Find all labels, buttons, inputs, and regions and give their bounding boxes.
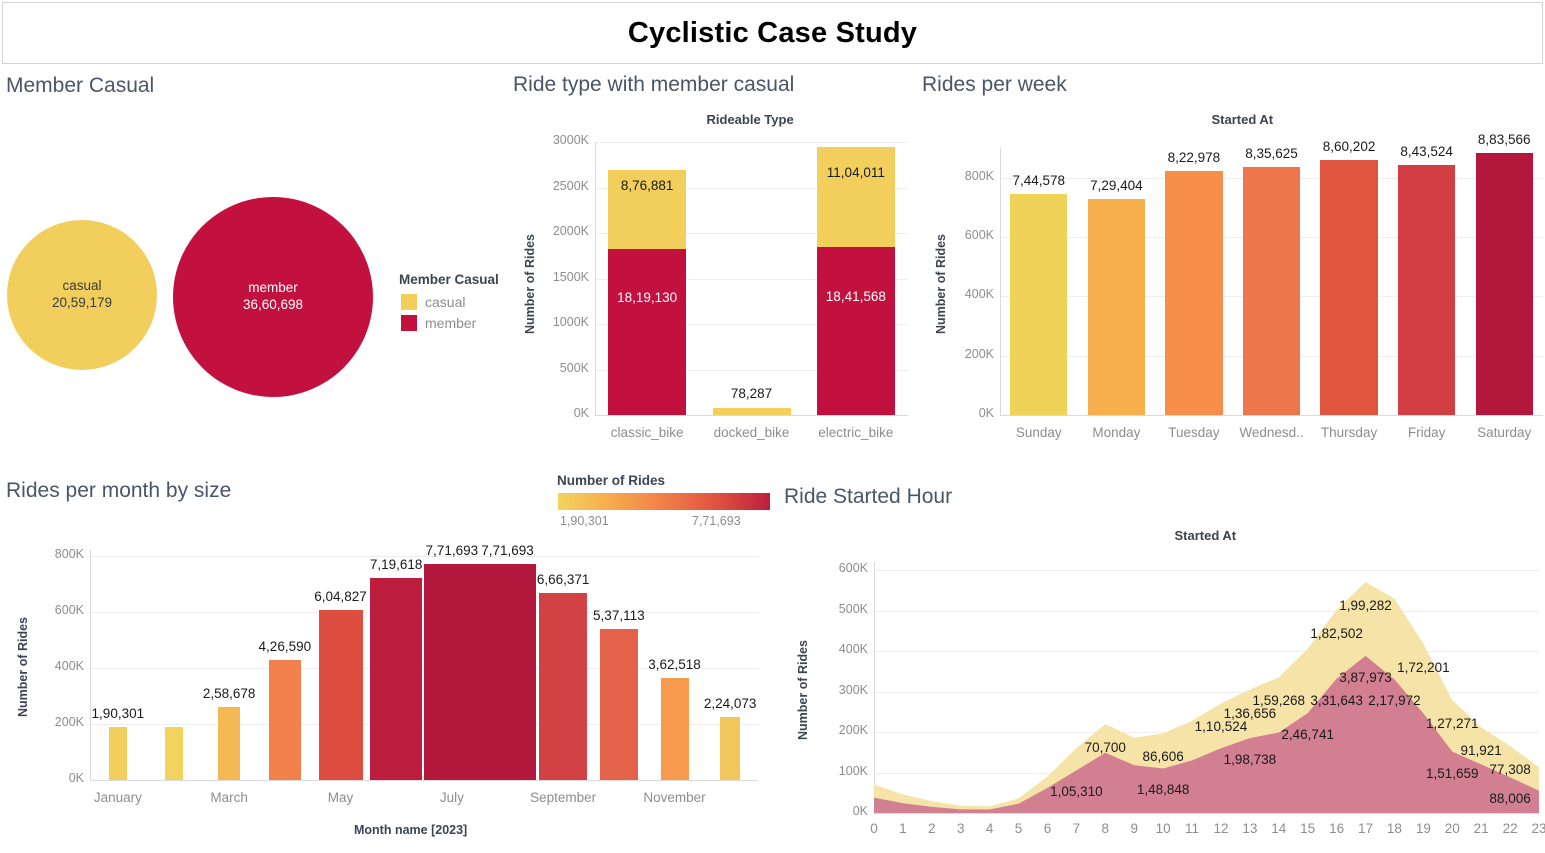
ride-started-hour-chart: Started AtNumber of Rides0K100K200K300K4… — [782, 520, 1545, 853]
legend-title-number-of-rides: Number of Rides — [557, 473, 665, 488]
ride-started-hour-x-tick-17: 17 — [1350, 821, 1382, 836]
rides-per-month-y-tick: 600K — [30, 603, 84, 617]
page-title: Cyclistic Case Study — [628, 17, 917, 50]
rides-per-month-value-September: 6,66,371 — [507, 572, 619, 587]
ride-type-y-tick: 2500K — [533, 179, 589, 193]
rides-per-week-bar-Tuesday[interactable] — [1165, 171, 1222, 415]
rides-per-month-bar-November[interactable] — [661, 678, 689, 780]
ride-started-hour-label-casual-21: 91,921 — [1427, 743, 1535, 758]
ride-started-hour-x-tick-8: 8 — [1089, 821, 1121, 836]
rides-per-month-bar-March[interactable] — [218, 707, 240, 780]
ride-started-hour-label-member-18: 2,17,972 — [1340, 693, 1448, 708]
legend-gradient-bar[interactable] — [558, 493, 770, 510]
rides-per-week-bar-Saturday[interactable] — [1476, 153, 1533, 415]
rides-per-month-bar-October[interactable] — [600, 629, 638, 780]
ride-started-hour-area-plot — [782, 520, 1545, 853]
x-axis-line — [595, 415, 908, 416]
rides-per-week-bar-Thursday[interactable] — [1320, 160, 1377, 415]
rides-per-month-bar-July[interactable] — [424, 564, 480, 780]
legend-label-casual: casual — [425, 294, 465, 310]
ride-type-y-tick: 3000K — [533, 133, 589, 147]
rides-per-week-chart-title: Started At — [1212, 112, 1274, 127]
bubble-label-casual: casual — [62, 278, 101, 295]
ride-type-value-casual-docked_bike: 78,287 — [713, 386, 791, 401]
ride-type-y-tick: 1500K — [533, 270, 589, 284]
rides-per-month-bar-May[interactable] — [319, 610, 363, 780]
ride-type-y-tick: 0K — [533, 406, 589, 420]
ride-type-bar-casual-docked_bike[interactable] — [713, 408, 791, 415]
ride-started-hour-x-tick-16: 16 — [1321, 821, 1353, 836]
legend-swatch-member — [401, 315, 417, 331]
rides-per-week-bar-Friday[interactable] — [1398, 165, 1455, 415]
ride-started-hour-x-tick-6: 6 — [1031, 821, 1063, 836]
rides-per-week-y-tick: 0K — [942, 406, 994, 420]
ride-started-hour-label-member-22: 88,006 — [1456, 791, 1545, 806]
x-axis-line — [90, 780, 758, 781]
panel-title-member-casual: Member Casual — [6, 74, 154, 98]
ride-type-value-member-electric_bike: 18,41,568 — [817, 289, 895, 304]
gridline — [595, 142, 908, 143]
ride-started-hour-x-tick-14: 14 — [1263, 821, 1295, 836]
rides-per-month-bar-February[interactable] — [165, 727, 183, 780]
rides-per-month-category-March: March — [171, 790, 287, 805]
ride-started-hour-label-member-10: 1,48,848 — [1109, 782, 1217, 797]
ride-started-hour-label-member-13: 1,98,738 — [1196, 752, 1304, 767]
ride-type-value-casual-classic_bike: 8,76,881 — [608, 178, 686, 193]
ride-started-hour-label-casual-16: 1,82,502 — [1283, 626, 1391, 641]
ride-started-hour-x-tick-23: 23 — [1523, 821, 1545, 836]
ride-started-hour-x-tick-10: 10 — [1147, 821, 1179, 836]
rides-per-week-bar-Sunday[interactable] — [1010, 194, 1067, 415]
legend-item-member[interactable]: member — [401, 315, 476, 331]
rides-per-month-bar-January[interactable] — [109, 727, 127, 780]
bubble-casual[interactable]: casual20,59,179 — [7, 220, 157, 370]
ride-started-hour-label-member-17: 3,87,973 — [1312, 670, 1420, 685]
y-axis-line — [595, 142, 596, 415]
ride-type-bar-casual-electric_bike[interactable] — [817, 147, 895, 247]
ride-started-hour-label-casual-20: 1,27,271 — [1398, 716, 1506, 731]
rides-per-month-x-axis-title: Month name [2023] — [354, 823, 467, 837]
rides-per-month-y-tick: 800K — [30, 547, 84, 561]
rides-per-week-y-tick: 600K — [942, 228, 994, 242]
legend-title-member-casual: Member Casual — [399, 272, 499, 287]
panel-title-rides-per-week: Rides per week — [922, 73, 1067, 97]
ride-started-hour-x-tick-19: 19 — [1407, 821, 1439, 836]
ride-started-hour-label-member-15: 2,46,741 — [1254, 727, 1362, 742]
ride-type-bar-member-electric_bike[interactable] — [817, 247, 895, 415]
ride-type-chart-title: Rideable Type — [707, 112, 794, 127]
rides-per-week-y-tick: 200K — [942, 347, 994, 361]
rides-per-week-category-Saturday: Saturday — [1452, 425, 1545, 440]
rides-per-month-bar-August[interactable] — [480, 564, 536, 780]
ride-started-hour-x-tick-11: 11 — [1176, 821, 1208, 836]
ride-started-hour-x-tick-20: 20 — [1436, 821, 1468, 836]
rides-per-month-value-August: 7,71,693 — [452, 543, 564, 558]
y-axis-line — [90, 550, 91, 780]
rides-per-week-y-tick: 400K — [942, 287, 994, 301]
rides-per-month-y-tick: 400K — [30, 659, 84, 673]
rides-per-week-chart: Started AtNumber of Rides0K200K400K600K8… — [922, 112, 1545, 467]
rides-per-month-category-May: May — [283, 790, 399, 805]
panel-title-ride-started-hour: Ride Started Hour — [784, 485, 952, 509]
rides-per-month-category-November: November — [617, 790, 733, 805]
ride-type-category-electric_bike: electric_bike — [790, 425, 922, 440]
dashboard-root: Cyclistic Case Study Member Casual Ride … — [0, 0, 1545, 853]
ride-started-hour-x-tick-9: 9 — [1118, 821, 1150, 836]
ride-started-hour-label-member-20: 1,51,659 — [1398, 766, 1506, 781]
rides-per-month-category-July: July — [394, 790, 510, 805]
ride-started-hour-x-tick-18: 18 — [1378, 821, 1410, 836]
rides-per-month-y-axis-title: Number of Rides — [16, 617, 30, 717]
bubble-value-casual: 20,59,179 — [52, 295, 112, 312]
ride-type-value-member-classic_bike: 18,19,130 — [608, 290, 686, 305]
rides-per-month-value-November: 3,62,518 — [619, 657, 731, 672]
ride-type-chart: Rideable TypeNumber of Rides0K500K1000K1… — [505, 112, 920, 467]
rides-per-month-value-January: 1,90,301 — [62, 706, 174, 721]
member-casual-bubble-chart: casual20,59,179member36,60,698 — [0, 180, 400, 440]
rides-per-month-chart: Number of RidesMonth name [2023]0K200K40… — [0, 520, 780, 853]
rides-per-month-value-October: 5,37,113 — [563, 608, 675, 623]
x-axis-line — [1000, 415, 1543, 416]
rides-per-month-category-September: September — [505, 790, 621, 805]
rides-per-week-value-Saturday: 8,83,566 — [1452, 132, 1545, 147]
ride-started-hour-x-tick-13: 13 — [1234, 821, 1266, 836]
rides-per-month-bar-June[interactable] — [370, 578, 422, 780]
ride-type-y-tick: 1000K — [533, 315, 589, 329]
ride-started-hour-x-tick-2: 2 — [916, 821, 948, 836]
legend-swatch-casual — [401, 294, 417, 310]
rides-per-week-value-Monday: 7,29,404 — [1064, 178, 1168, 193]
ride-started-hour-x-tick-22: 22 — [1494, 821, 1526, 836]
ride-started-hour-x-tick-3: 3 — [945, 821, 977, 836]
ride-started-hour-x-tick-12: 12 — [1205, 821, 1237, 836]
ride-started-hour-x-tick-5: 5 — [1003, 821, 1035, 836]
ride-type-bar-member-classic_bike[interactable] — [608, 249, 686, 415]
dashboard-title-bar: Cyclistic Case Study — [2, 2, 1543, 64]
rides-per-month-bar-December[interactable] — [720, 717, 740, 780]
ride-type-y-tick: 500K — [533, 361, 589, 375]
ride-type-y-tick: 2000K — [533, 224, 589, 238]
ride-started-hour-x-tick-21: 21 — [1465, 821, 1497, 836]
rides-per-week-bar-Wednesd..[interactable] — [1243, 167, 1300, 415]
panel-title-ride-type: Ride type with member casual — [513, 73, 794, 97]
ride-started-hour-x-tick-7: 7 — [1060, 821, 1092, 836]
ride-started-hour-x-tick-4: 4 — [974, 821, 1006, 836]
ride-started-hour-x-tick-1: 1 — [887, 821, 919, 836]
rides-per-week-y-axis-title: Number of Rides — [934, 233, 948, 333]
bubble-value-member: 36,60,698 — [243, 297, 303, 314]
rides-per-month-category-January: January — [60, 790, 176, 805]
ride-type-value-casual-electric_bike: 11,04,011 — [817, 165, 895, 180]
bubble-label-member: member — [248, 280, 298, 297]
rides-per-month-bar-April[interactable] — [269, 660, 301, 780]
ride-started-hour-x-tick-0: 0 — [858, 821, 890, 836]
rides-per-month-value-December: 2,24,073 — [674, 696, 786, 711]
legend-label-member: member — [425, 315, 476, 331]
bubble-member[interactable]: member36,60,698 — [173, 197, 373, 397]
legend-item-casual[interactable]: casual — [401, 294, 465, 310]
rides-per-week-bar-Monday[interactable] — [1088, 199, 1145, 415]
ride-started-hour-label-casual-17: 1,99,282 — [1312, 598, 1420, 613]
rides-per-month-y-tick: 0K — [30, 771, 84, 785]
panel-title-rides-per-month: Rides per month by size — [6, 479, 231, 503]
ride-started-hour-x-tick-15: 15 — [1292, 821, 1324, 836]
